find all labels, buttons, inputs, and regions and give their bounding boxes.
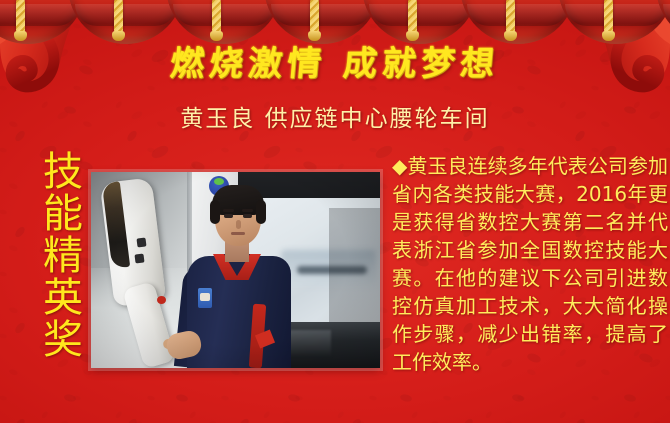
curtain-tassel-icon bbox=[212, 0, 221, 34]
curtain-tassel-icon bbox=[114, 0, 123, 34]
photo-vignette bbox=[91, 172, 380, 368]
curtain-tassel-icon bbox=[310, 0, 319, 34]
curtain-tassel-icon bbox=[506, 0, 515, 34]
award-poster: 燃烧激情 成就梦想 黄玉良 供应链中心腰轮车间 技能精英奖 bbox=[0, 0, 670, 423]
poster-subtitle: 黄玉良 供应链中心腰轮车间 bbox=[0, 99, 670, 133]
curtain-tassel-icon bbox=[16, 0, 25, 34]
award-photo-frame bbox=[91, 172, 380, 368]
vertical-award-banner: 技能精英奖 bbox=[33, 140, 79, 370]
award-photo bbox=[91, 172, 380, 368]
poster-title: 燃烧激情 成就梦想 bbox=[0, 36, 670, 85]
curtain-tassel-icon bbox=[604, 0, 613, 34]
award-description-text: ◆黄玉良连续多年代表公司参加省内各类技能大赛，2016年更是获得省数控大赛第二名… bbox=[392, 152, 668, 376]
curtain-tassel-icon bbox=[408, 0, 417, 34]
